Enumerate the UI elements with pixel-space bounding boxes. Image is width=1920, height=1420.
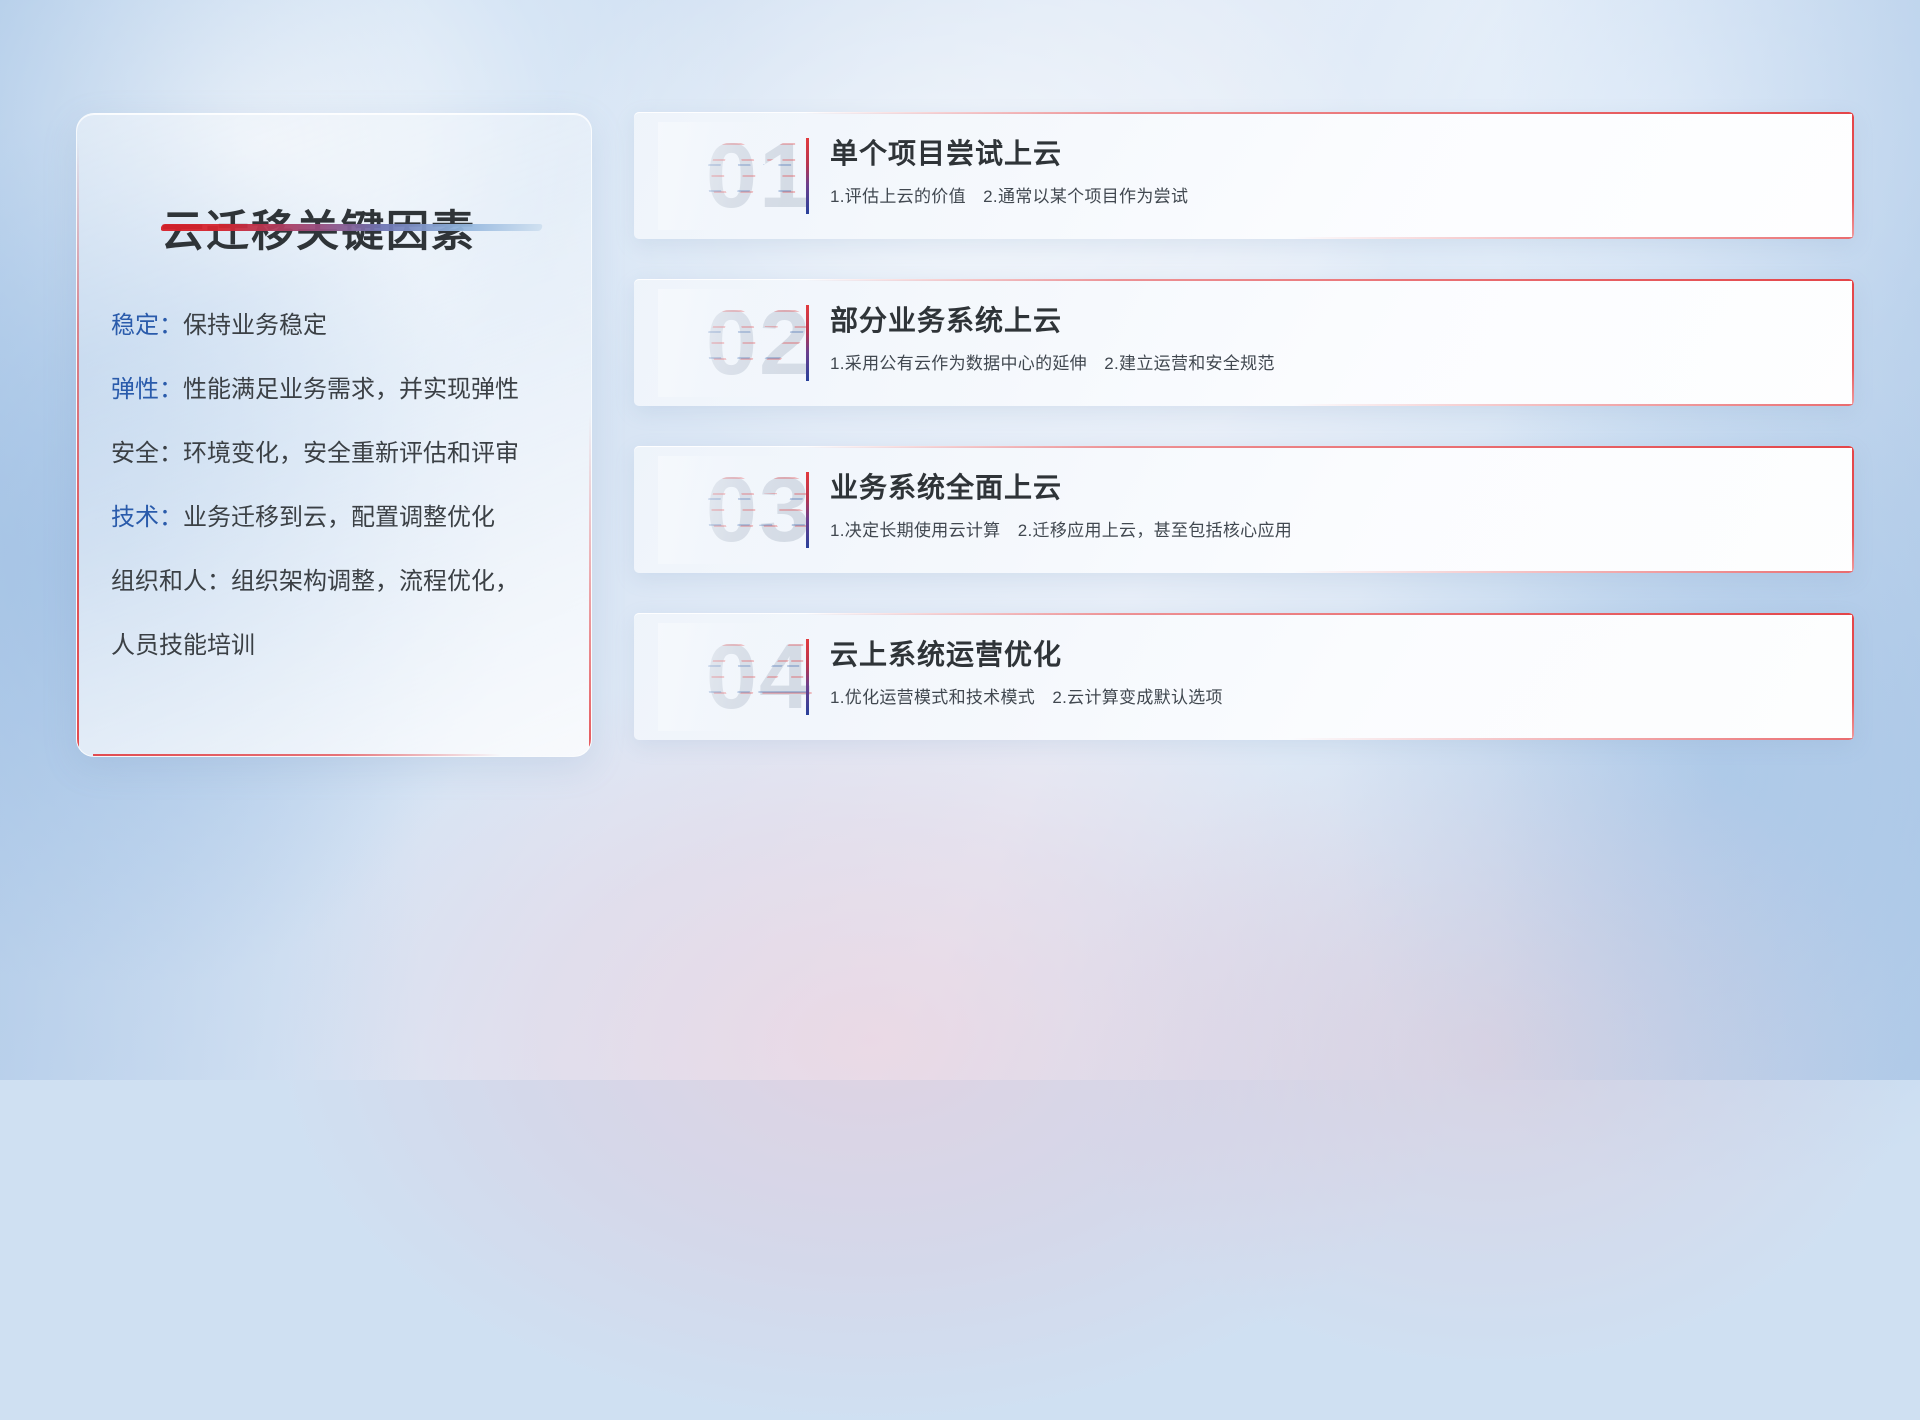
stage-title: 业务系统全面上云 — [830, 466, 1062, 506]
key-factor-text: 业务迁移到云，配置调整优化 — [183, 504, 495, 531]
card-top-accent — [805, 446, 1854, 448]
stage-number: 01 — [666, 128, 852, 224]
key-factor-text: 组织架构调整，流程优化， — [231, 568, 519, 595]
stage-number: 03 — [666, 462, 852, 558]
card-divider-bar — [806, 138, 809, 214]
key-factor-label: 稳定： — [111, 312, 183, 339]
key-factor-item: 安全：环境变化，安全重新评估和评审 — [111, 442, 573, 466]
key-factor-item: 组织和人：组织架构调整，流程优化， — [111, 570, 573, 594]
card-bottom-accent — [1293, 237, 1854, 239]
key-factor-item-continued: 人员技能培训 — [111, 634, 573, 658]
card-divider-bar — [806, 472, 809, 548]
stage-card-list: 01 01 01 单个项目尝试上云 1.评估上云的价值 2.通常以某个项目作为尝… — [634, 112, 1854, 780]
stage-number: 04 — [666, 629, 852, 725]
stage-number: 02 — [666, 295, 852, 391]
card-top-accent — [805, 613, 1854, 615]
card-bottom-accent — [1293, 404, 1854, 406]
card-top-accent — [805, 112, 1854, 114]
stage-card[interactable]: 01 01 01 单个项目尝试上云 1.评估上云的价值 2.通常以某个项目作为尝… — [634, 112, 1854, 239]
stage-title: 云上系统运营优化 — [830, 633, 1062, 673]
stage-description: 1.采用公有云作为数据中心的延伸 2.建立运营和安全规范 — [830, 349, 1275, 374]
card-divider-bar — [806, 639, 809, 715]
card-top-accent — [805, 279, 1854, 281]
panel-title-underline — [161, 224, 581, 234]
key-factor-item: 弹性：性能满足业务需求，并实现弹性 — [111, 378, 573, 402]
key-factor-item: 技术：业务迁移到云，配置调整优化 — [111, 506, 573, 530]
panel-right-accent-line — [589, 414, 591, 756]
card-divider-bar — [806, 305, 809, 381]
stage-description: 1.评估上云的价值 2.通常以某个项目作为尝试 — [830, 182, 1188, 207]
panel-left-accent-line — [77, 140, 79, 756]
key-factor-label: 技术： — [111, 504, 183, 531]
card-right-accent — [1852, 279, 1854, 406]
stage-card[interactable]: 04 04 04 云上系统运营优化 1.优化运营模式和技术模式 2.云计算变成默… — [634, 613, 1854, 740]
key-factors-panel: 云迁移关键因素 稳定：保持业务稳定 弹性：性能满足业务需求，并实现弹性 安全：环… — [76, 113, 592, 757]
stage-card[interactable]: 02 02 02 部分业务系统上云 1.采用公有云作为数据中心的延伸 2.建立运… — [634, 279, 1854, 406]
key-factors-list: 稳定：保持业务稳定 弹性：性能满足业务需求，并实现弹性 安全：环境变化，安全重新… — [111, 314, 573, 698]
stage-card[interactable]: 03 03 03 业务系统全面上云 1.决定长期使用云计算 2.迁移应用上云，甚… — [634, 446, 1854, 573]
panel-bottom-accent-line — [93, 754, 501, 756]
key-factor-text: 性能满足业务需求，并实现弹性 — [183, 376, 519, 403]
stage-title: 单个项目尝试上云 — [830, 132, 1062, 172]
card-right-accent — [1852, 112, 1854, 239]
key-factor-text: 保持业务稳定 — [183, 312, 327, 339]
key-factor-label: 弹性： — [111, 376, 183, 403]
card-bottom-accent — [1293, 571, 1854, 573]
card-right-accent — [1852, 613, 1854, 740]
key-factor-label: 安全： — [111, 440, 183, 467]
stage-description: 1.决定长期使用云计算 2.迁移应用上云，甚至包括核心应用 — [830, 516, 1292, 541]
key-factor-text: 环境变化，安全重新评估和评审 — [183, 440, 519, 467]
key-factor-item: 稳定：保持业务稳定 — [111, 314, 573, 338]
card-bottom-accent — [1293, 738, 1854, 740]
key-factor-label: 组织和人： — [111, 568, 231, 595]
stage-title: 部分业务系统上云 — [830, 299, 1062, 339]
card-right-accent — [1852, 446, 1854, 573]
stage-description: 1.优化运营模式和技术模式 2.云计算变成默认选项 — [830, 683, 1223, 708]
key-factor-text: 人员技能培训 — [111, 632, 255, 659]
